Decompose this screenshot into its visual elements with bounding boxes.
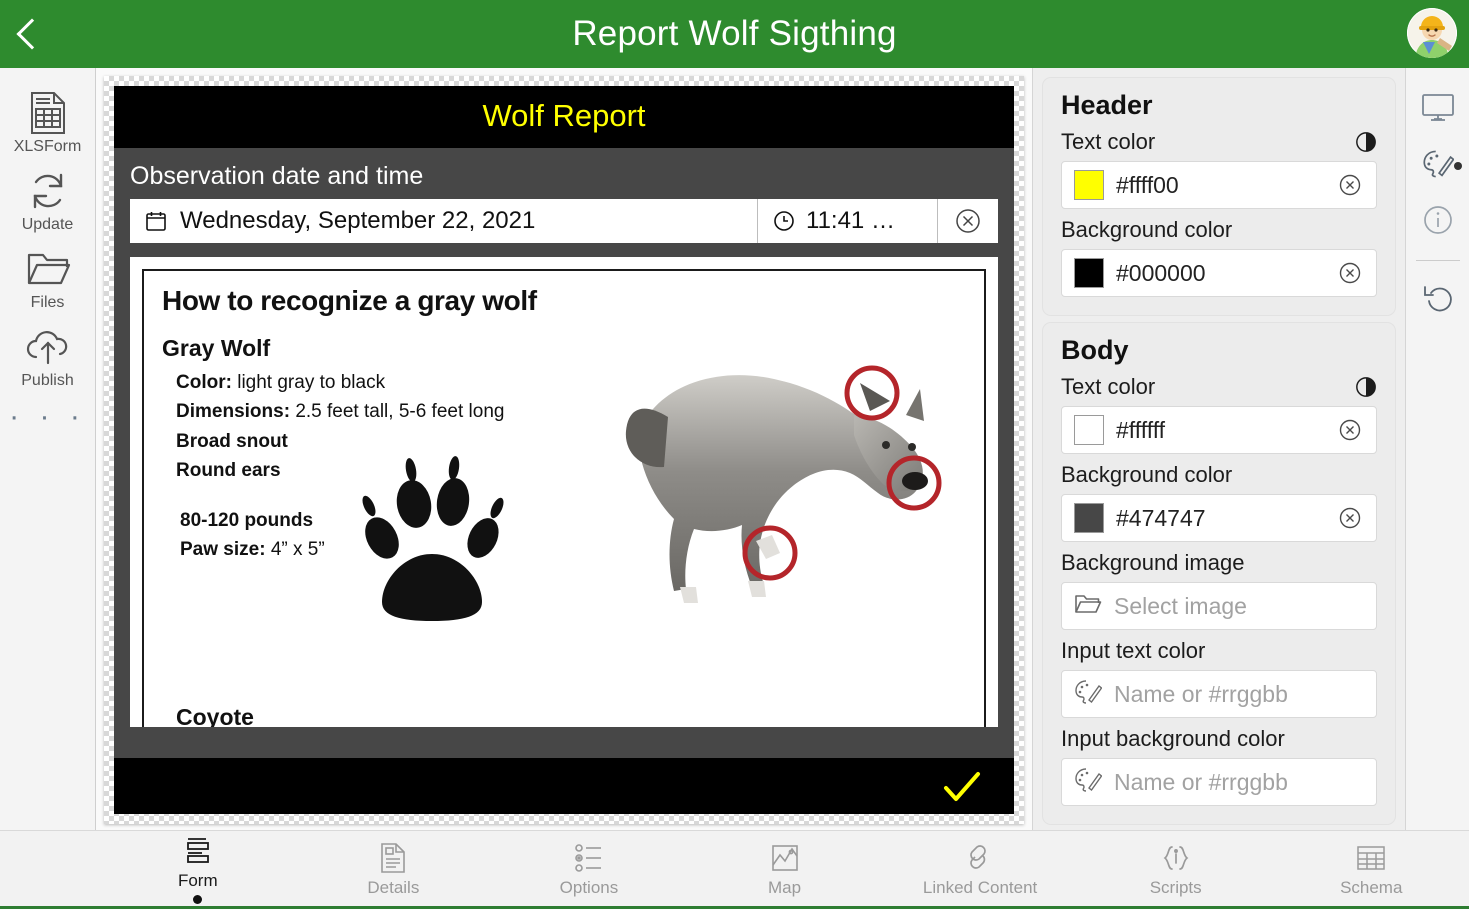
paw-print-illustration	[356, 446, 516, 621]
palette-icon	[1422, 149, 1454, 184]
section-title: Header	[1061, 90, 1377, 121]
preview-form-body: Observation date and time Wednesday, Sep…	[114, 148, 1014, 758]
color-swatch	[1074, 170, 1104, 200]
contrast-icon[interactable]	[1355, 131, 1377, 153]
tab-form[interactable]: Form	[100, 831, 296, 906]
date-value: Wednesday, September 22, 2021	[180, 207, 535, 235]
clear-circle-x-icon	[953, 206, 983, 236]
datetime-field-row: Wednesday, September 22, 2021 11:41 …	[130, 199, 998, 243]
field-label: Text color	[1061, 374, 1155, 400]
field-label-row: Input text color	[1061, 638, 1377, 664]
field-label-row: Input background color	[1061, 726, 1377, 752]
input-text-color-input[interactable]: Name or #rrggbb	[1061, 670, 1377, 718]
color-value: #ffff00	[1116, 172, 1324, 199]
header-background-color-input[interactable]: #000000	[1061, 249, 1377, 297]
link-chain-icon	[964, 840, 996, 876]
body-background-color-input[interactable]: #474747	[1061, 494, 1377, 542]
table-grid-icon	[1355, 840, 1387, 876]
title-bar: Report Wolf Sigthing	[0, 0, 1469, 68]
clear-circle-x-icon[interactable]	[1336, 505, 1364, 531]
sidebar-item-label: Files	[31, 294, 65, 312]
attr-name: Round ears	[176, 460, 281, 481]
form-preview-area: Wolf Report Observation date and time We…	[96, 68, 1032, 830]
attr-name: Dimensions:	[176, 401, 290, 422]
header-text-color-input[interactable]: #ffff00	[1061, 161, 1377, 209]
back-button[interactable]	[0, 0, 56, 68]
infographic-second-heading: Coyote	[176, 704, 254, 727]
form-list-icon	[182, 833, 214, 869]
time-input[interactable]: 11:41 …	[758, 199, 938, 243]
sidebar-more-button[interactable]: · · ·	[9, 410, 86, 424]
tab-scripts[interactable]: Scripts	[1078, 831, 1274, 906]
preview-form-footer	[114, 758, 1014, 814]
form-preview-device: Wolf Report Observation date and time We…	[114, 86, 1014, 814]
field-label: Background color	[1061, 217, 1232, 243]
field-label-row: Background image	[1061, 550, 1377, 576]
palette-icon	[1074, 767, 1102, 798]
folder-open-icon	[1074, 592, 1102, 621]
avatar-image	[1407, 8, 1457, 58]
refresh-icon	[26, 168, 70, 214]
attr-name: Color:	[176, 372, 232, 393]
clear-circle-x-icon[interactable]	[1336, 417, 1364, 443]
palette-icon	[1074, 679, 1102, 710]
clear-circle-x-icon[interactable]	[1336, 260, 1364, 286]
gray-wolf-photo	[624, 305, 984, 665]
document-icon	[379, 840, 407, 876]
sidebar-item-xlsform[interactable]: XLSForm	[0, 82, 96, 160]
paw-name: Paw size:	[180, 539, 266, 560]
radio-options-icon	[573, 840, 605, 876]
avatar[interactable]	[1407, 8, 1457, 58]
tab-label: Scripts	[1150, 878, 1202, 898]
color-swatch	[1074, 503, 1104, 533]
main-content-row: XLSForm Update	[0, 68, 1469, 830]
sidebar-item-files[interactable]: Files	[0, 238, 96, 316]
tab-schema[interactable]: Schema	[1273, 831, 1469, 906]
wolf-info-inner: How to recognize a gray wolf Gray Wolf C…	[142, 269, 986, 727]
contrast-icon[interactable]	[1355, 376, 1377, 398]
preview-checker-frame: Wolf Report Observation date and time We…	[104, 76, 1024, 824]
attr-value: light gray to black	[237, 372, 385, 393]
info-circle-icon	[1422, 204, 1454, 241]
tab-map[interactable]: Map	[687, 831, 883, 906]
field-label: Background color	[1061, 462, 1232, 488]
tab-label: Linked Content	[923, 878, 1037, 898]
color-value: #474747	[1116, 505, 1324, 532]
rail-divider	[1416, 260, 1460, 261]
folder-open-icon	[25, 246, 71, 292]
datetime-clear-button[interactable]	[938, 199, 998, 243]
theme-palette-button[interactable]	[1406, 138, 1469, 194]
sidebar-item-label: XLSForm	[14, 138, 82, 156]
spreadsheet-document-icon	[27, 90, 69, 136]
tab-label: Details	[367, 878, 419, 898]
properties-panel: Header Text color #ffff00	[1032, 68, 1405, 830]
field-label-row: Text color	[1061, 129, 1377, 155]
preview-monitor-button[interactable]	[1406, 82, 1469, 138]
date-input[interactable]: Wednesday, September 22, 2021	[130, 199, 758, 243]
field-label: Input text color	[1061, 638, 1205, 664]
right-tool-rail	[1405, 68, 1469, 830]
properties-section-header: Header Text color #ffff00	[1043, 78, 1395, 315]
preview-form-header: Wolf Report	[114, 86, 1014, 148]
sidebar-item-publish[interactable]: Publish	[0, 316, 96, 394]
attr-name: Broad snout	[176, 431, 288, 452]
attr-value: 2.5 feet tall, 5-6 feet long	[295, 401, 504, 422]
properties-section-body: Body Text color #ffffff	[1043, 323, 1395, 824]
cloud-upload-icon	[24, 324, 72, 370]
color-swatch	[1074, 258, 1104, 288]
sidebar-item-label: Publish	[21, 372, 73, 390]
revert-button[interactable]	[1406, 271, 1469, 327]
section-title: Body	[1061, 335, 1377, 366]
back-chevron-icon	[16, 18, 47, 49]
tab-linked-content[interactable]: Linked Content	[882, 831, 1078, 906]
tab-options[interactable]: Options	[491, 831, 687, 906]
sidebar-item-update[interactable]: Update	[0, 160, 96, 238]
sidebar-item-label: Update	[22, 216, 74, 234]
bottom-tab-bar: Form Details Options	[0, 830, 1469, 909]
field-label: Background image	[1061, 550, 1244, 576]
color-swatch	[1074, 415, 1104, 445]
check-mark-icon[interactable]	[938, 768, 986, 804]
question-label: Observation date and time	[114, 148, 1014, 199]
field-placeholder: Name or #rrggbb	[1114, 681, 1364, 708]
active-tab-indicator	[193, 895, 202, 904]
wolf-info-card: How to recognize a gray wolf Gray Wolf C…	[130, 257, 998, 727]
color-value: #000000	[1116, 260, 1324, 287]
paw-value: 4” x 5”	[271, 539, 325, 560]
clear-circle-x-icon[interactable]	[1336, 172, 1364, 198]
tab-label: Schema	[1340, 878, 1402, 898]
tab-label: Form	[178, 871, 218, 891]
field-label-row: Background color	[1061, 217, 1377, 243]
field-placeholder: Select image	[1114, 593, 1364, 620]
field-label-row: Text color	[1061, 374, 1377, 400]
input-background-color-input[interactable]: Name or #rrggbb	[1061, 758, 1377, 806]
braces-code-icon	[1161, 840, 1191, 876]
revert-undo-icon	[1422, 281, 1454, 318]
tab-label: Map	[768, 878, 801, 898]
body-text-color-input[interactable]: #ffffff	[1061, 406, 1377, 454]
page-title: Report Wolf Sigthing	[0, 14, 1469, 54]
info-button[interactable]	[1406, 194, 1469, 250]
monitor-preview-icon	[1421, 93, 1455, 128]
calendar-icon	[144, 209, 168, 233]
body-background-image-input[interactable]: Select image	[1061, 582, 1377, 630]
field-label: Input background color	[1061, 726, 1285, 752]
color-value: #ffffff	[1116, 417, 1324, 444]
map-icon	[770, 840, 800, 876]
field-placeholder: Name or #rrggbb	[1114, 769, 1364, 796]
left-sidebar: XLSForm Update	[0, 68, 96, 830]
field-label-row: Background color	[1061, 462, 1377, 488]
app-window: Report Wolf Sigthing	[0, 0, 1469, 909]
tab-label: Options	[560, 878, 619, 898]
time-value: 11:41 …	[806, 207, 895, 235]
field-label: Text color	[1061, 129, 1155, 155]
clock-icon	[772, 209, 796, 233]
tab-details[interactable]: Details	[296, 831, 492, 906]
active-indicator-dot	[1454, 162, 1462, 170]
